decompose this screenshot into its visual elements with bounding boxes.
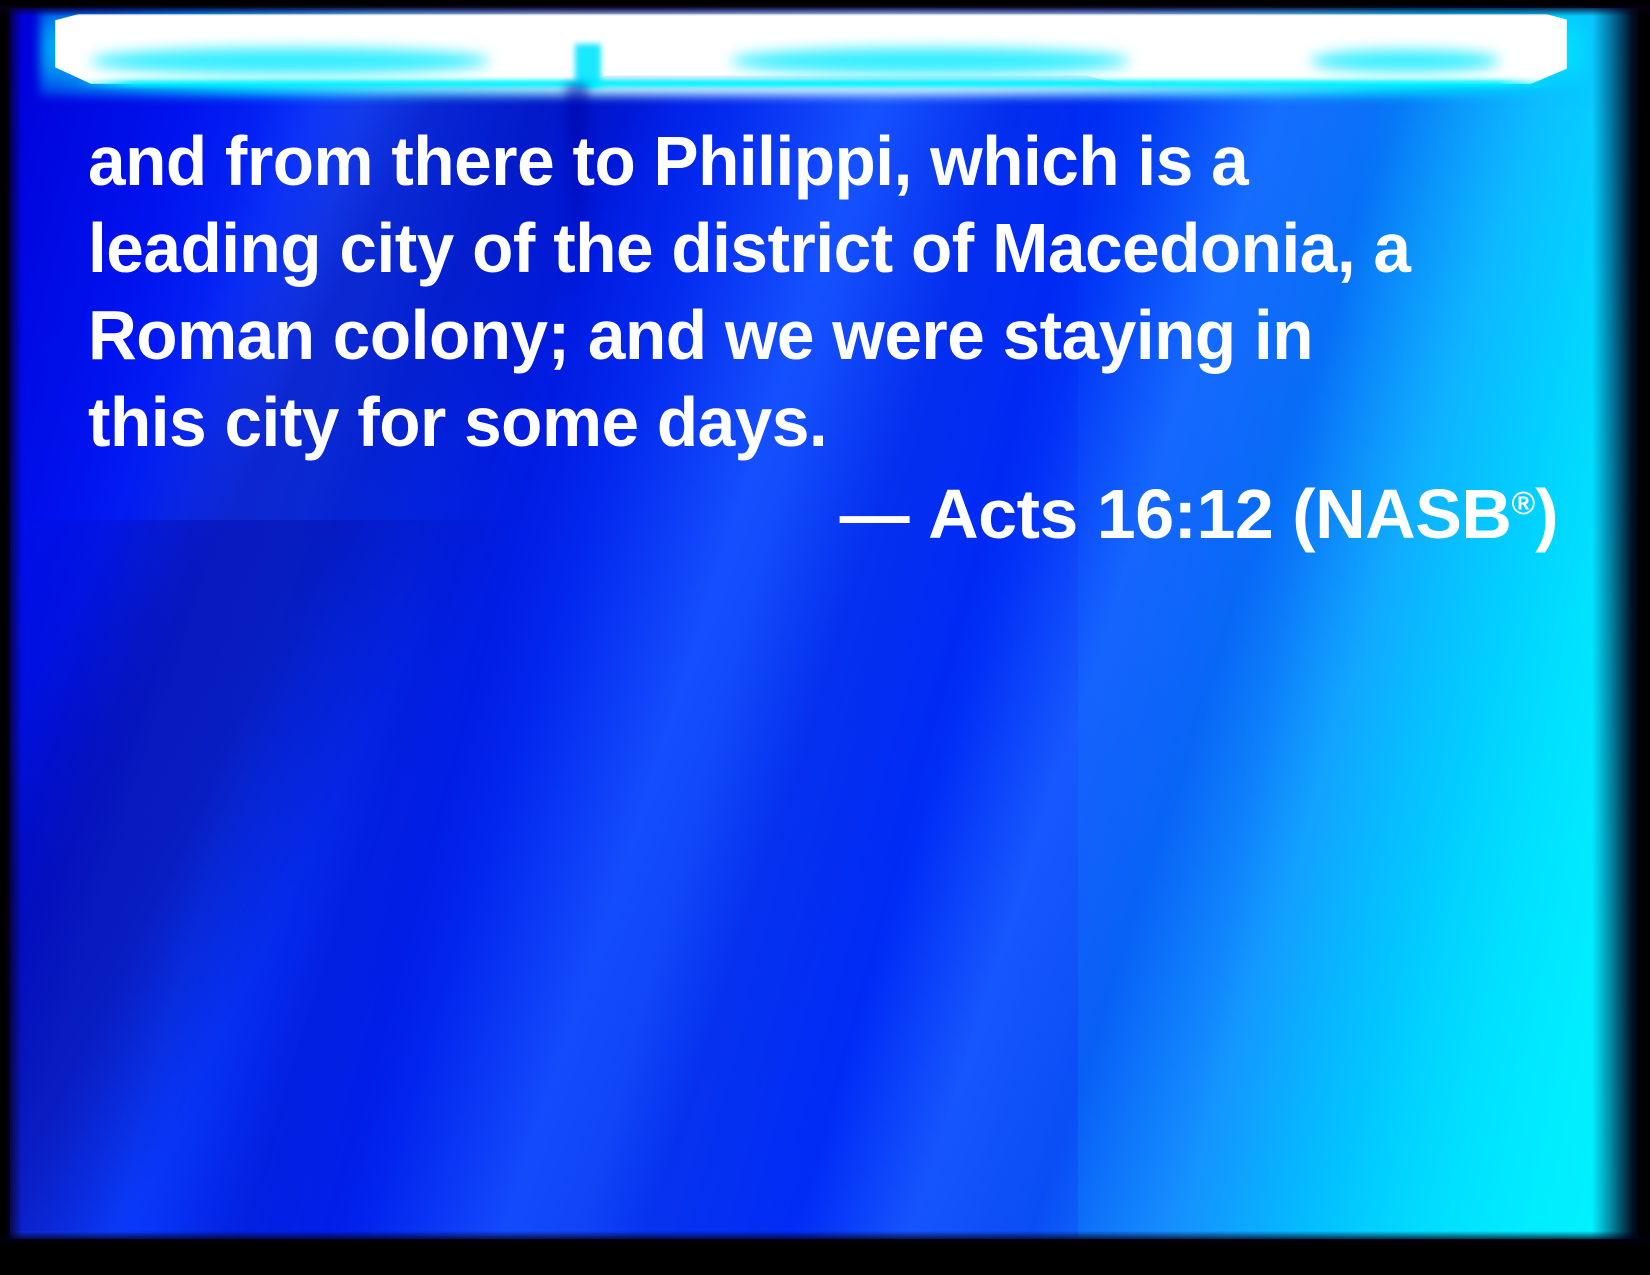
banner-cyan-blob-right: [1310, 50, 1500, 72]
attribution-reference: Acts 16:12: [928, 475, 1273, 553]
verse-line: this city for some days.: [88, 379, 1507, 466]
banner-cyan-rim: [76, 80, 1556, 87]
verse-text-block: and from there to Philippi, which is a l…: [88, 118, 1558, 466]
banner-cyan-blob-left: [90, 48, 490, 74]
verse-attribution: — Acts 16:12 (NASB®): [88, 460, 1558, 557]
scripture-verse-slide: and from there to Philippi, which is a l…: [0, 0, 1650, 1275]
verse-line: leading city of the district of Macedoni…: [88, 205, 1507, 292]
banner-cyan-blob-center: [730, 48, 1130, 74]
background-dark-wedge: [10, 520, 710, 1231]
attribution-close-paren: ): [1535, 475, 1558, 553]
verse-line: Roman colony; and we were staying in: [88, 292, 1507, 379]
attribution-translation: NASB: [1315, 475, 1511, 553]
attribution-dash: —: [840, 475, 910, 553]
verse-line: and from there to Philippi, which is a: [88, 118, 1507, 205]
attribution-open-paren: (: [1292, 475, 1315, 553]
registered-trademark-icon: ®: [1511, 485, 1535, 521]
